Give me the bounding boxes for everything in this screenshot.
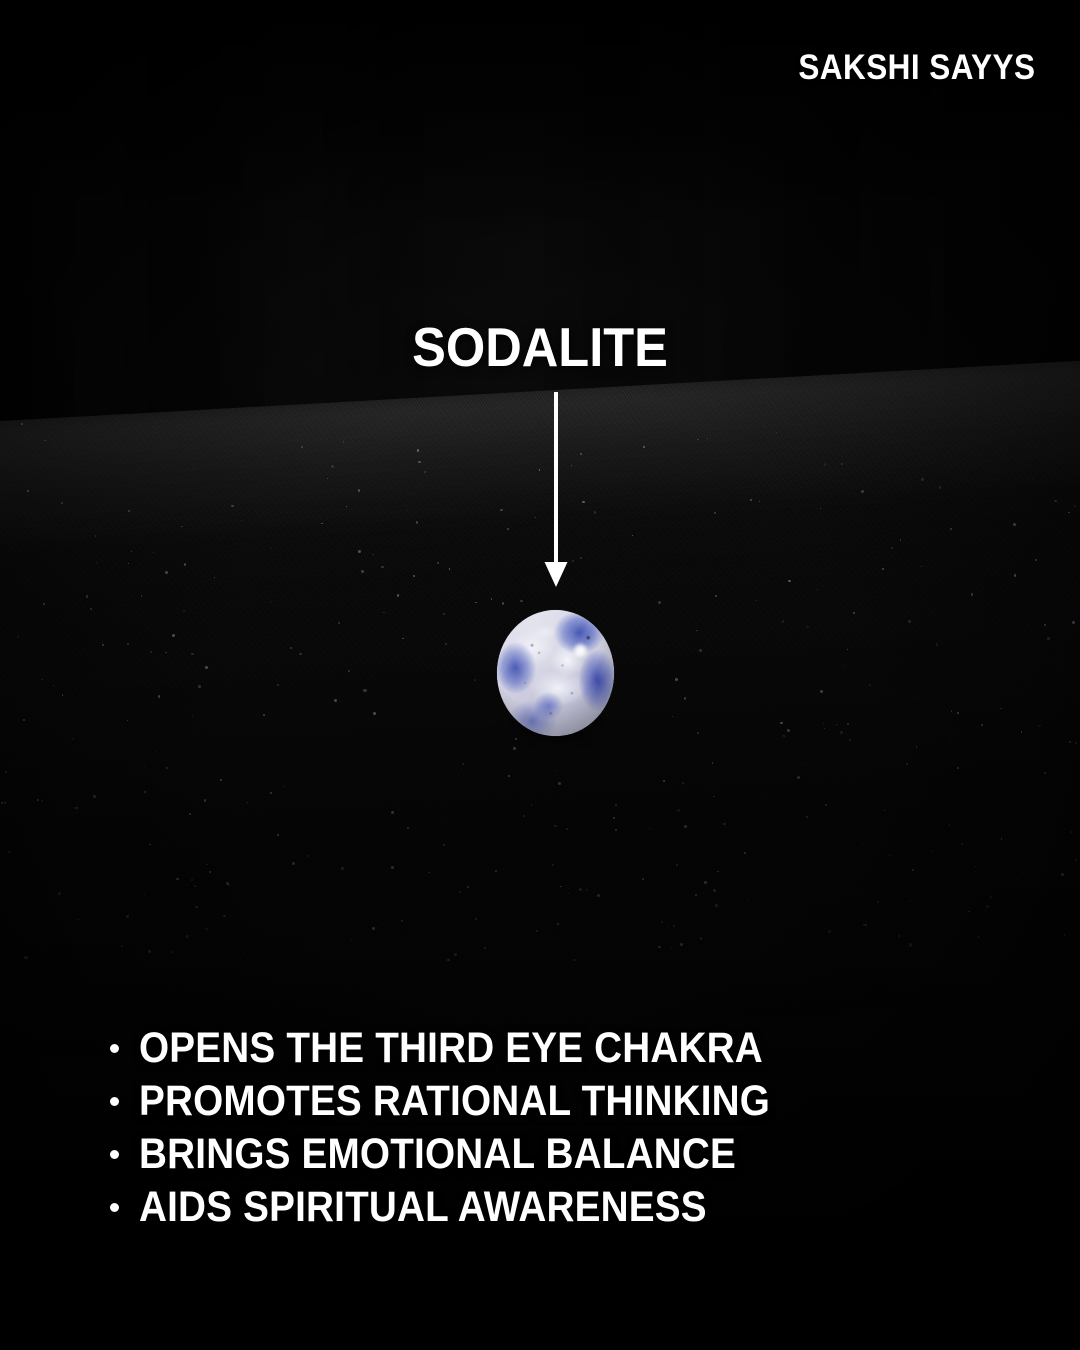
list-item-label: AIDS SPIRITUAL AWARENESS — [139, 1186, 707, 1229]
list-item: OPENS THE THIRD EYE CHAKRA — [108, 1022, 968, 1075]
sodalite-sphere — [494, 608, 618, 744]
down-arrow-icon — [538, 392, 574, 590]
sphere-specular-highlight — [572, 643, 589, 658]
list-item-label: BRINGS EMOTIONAL BALANCE — [139, 1133, 736, 1176]
benefits-list: OPENS THE THIRD EYE CHAKRAPROMOTES RATIO… — [108, 1022, 968, 1234]
watermark-handle: SAKSHI SAYYS — [798, 48, 1035, 88]
bullet-dot-icon — [110, 1203, 119, 1212]
poster-canvas: SAKSHI SAYYS SODALITE OPENS THE THIRD EY… — [0, 0, 1080, 1350]
list-item: BRINGS EMOTIONAL BALANCE — [108, 1128, 968, 1181]
list-item: PROMOTES RATIONAL THINKING — [108, 1075, 968, 1128]
list-item: AIDS SPIRITUAL AWARENESS — [108, 1181, 968, 1234]
bullet-dot-icon — [110, 1150, 119, 1159]
page-title: SODALITE — [43, 315, 1037, 379]
sphere-body — [497, 610, 614, 736]
list-item-label: PROMOTES RATIONAL THINKING — [139, 1080, 770, 1123]
list-item-label: OPENS THE THIRD EYE CHAKRA — [139, 1027, 763, 1070]
bullet-dot-icon — [110, 1044, 119, 1053]
top-fade-overlay — [0, 0, 1080, 240]
bullet-dot-icon — [110, 1097, 119, 1106]
